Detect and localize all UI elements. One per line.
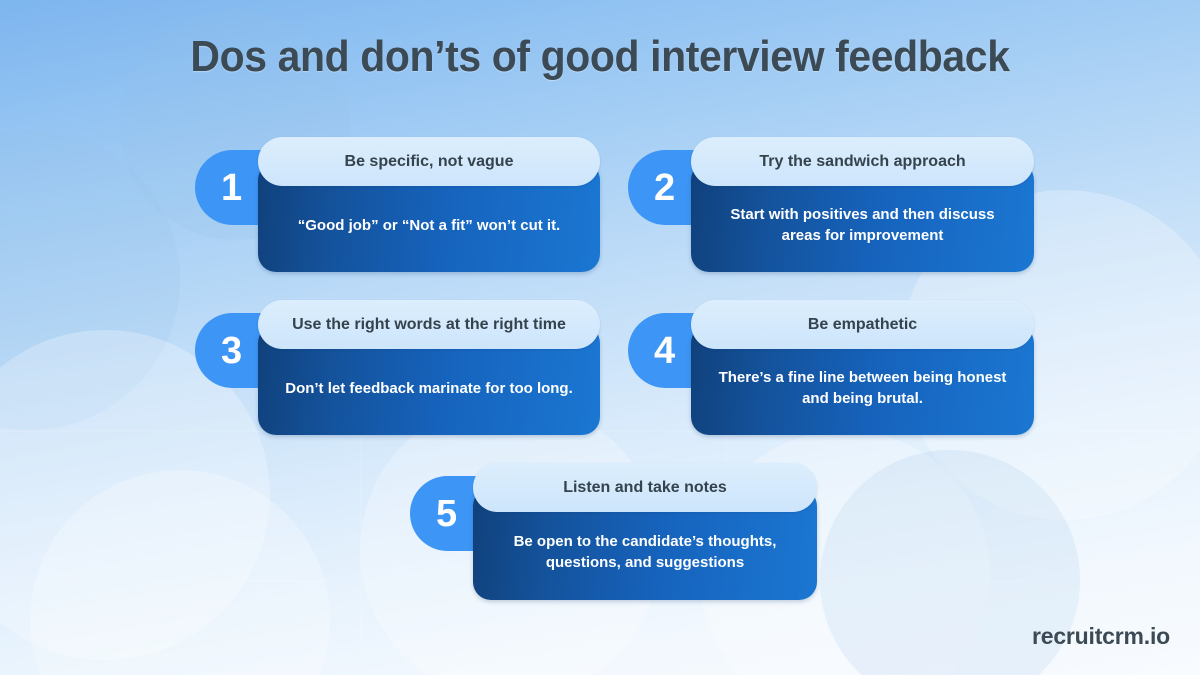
tip-body-5: Be open to the candidate’s thoughts, que… xyxy=(495,532,795,573)
deco-circle xyxy=(0,130,180,430)
brand-logo-text: recruitcrm.io xyxy=(1032,623,1170,650)
tip-body-2: Start with positives and then discuss ar… xyxy=(713,205,1012,246)
page-title: Dos and don’ts of good interview feedbac… xyxy=(42,32,1158,82)
infographic-canvas: Dos and don’ts of good interview feedbac… xyxy=(0,0,1200,675)
tip-card-stack-3: Use the right words at the right time Do… xyxy=(258,300,600,435)
tip-heading-2: Try the sandwich approach xyxy=(745,153,979,171)
tip-heading-5: Listen and take notes xyxy=(549,479,741,497)
deco-band xyxy=(360,430,362,675)
tip-number-2: 2 xyxy=(654,169,675,207)
tip-heading-3: Use the right words at the right time xyxy=(278,316,580,334)
tip-heading-bar-1: Be specific, not vague xyxy=(258,137,600,186)
tip-heading-bar-5: Listen and take notes xyxy=(473,463,817,512)
tip-body-1: “Good job” or “Not a fit” won’t cut it. xyxy=(298,216,560,237)
tip-body-4: There’s a fine line between being honest… xyxy=(713,368,1012,409)
tip-number-3: 3 xyxy=(221,332,242,370)
tip-heading-1: Be specific, not vague xyxy=(331,153,528,171)
tip-number-1: 1 xyxy=(221,169,242,207)
tip-card-stack-5: Listen and take notes Be open to the can… xyxy=(473,463,817,600)
tip-card-stack-1: Be specific, not vague “Good job” or “No… xyxy=(258,137,600,272)
tip-card-stack-2: Try the sandwich approach Start with pos… xyxy=(691,137,1034,272)
tip-heading-bar-2: Try the sandwich approach xyxy=(691,137,1034,186)
tip-number-5: 5 xyxy=(436,495,457,533)
tip-heading-bar-3: Use the right words at the right time xyxy=(258,300,600,349)
deco-circle xyxy=(30,470,330,675)
tip-heading-bar-4: Be empathetic xyxy=(691,300,1034,349)
tip-body-3: Don’t let feedback marinate for too long… xyxy=(285,379,573,400)
tip-card-stack-4: Be empathetic There’s a fine line betwee… xyxy=(691,300,1034,435)
tip-heading-4: Be empathetic xyxy=(794,316,931,334)
tip-number-4: 4 xyxy=(654,332,675,370)
